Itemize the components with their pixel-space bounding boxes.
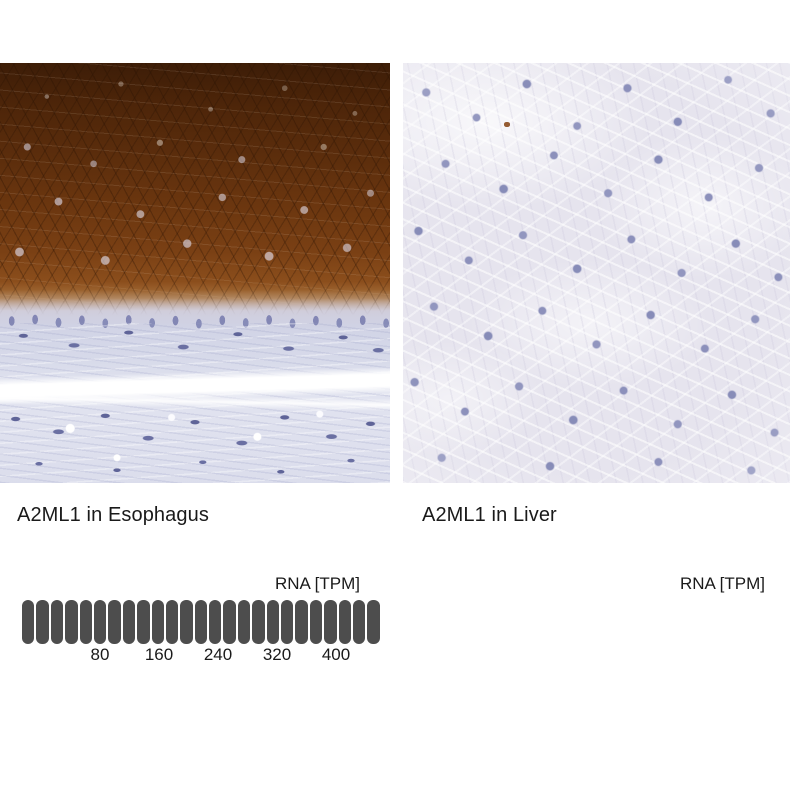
rna-bar-segment — [195, 600, 207, 644]
rna-bar-segment — [324, 600, 336, 644]
rna-bar-segment — [209, 600, 221, 644]
rna-axis-tick-240: 240 — [204, 645, 232, 665]
rna-axis-tick-80: 80 — [91, 645, 110, 665]
rna-bar-segment — [281, 600, 293, 644]
rna-bar-segment — [295, 600, 307, 644]
esophagus-vacuoles — [0, 399, 390, 483]
rna-bar-segment — [252, 600, 264, 644]
rna-bar-segment — [80, 600, 92, 644]
figure-root: A2ML1 in Esophagus RNA [TPM] 80160240320… — [0, 0, 800, 800]
rna-axis-tick-160: 160 — [145, 645, 173, 665]
rna-bar-strip-esophagus[interactable] — [22, 600, 380, 644]
rna-bar-segment — [367, 600, 379, 644]
rna-axis-tick-320: 320 — [263, 645, 291, 665]
rna-axis-tick-400: 400 — [322, 645, 350, 665]
micrograph-liver[interactable] — [403, 63, 790, 483]
rna-bar-segment — [36, 600, 48, 644]
rna-bar-segment — [180, 600, 192, 644]
rna-bar-segment — [51, 600, 63, 644]
caption-liver: A2ML1 in Liver — [422, 504, 557, 527]
rna-bar-segment — [310, 600, 322, 644]
rna-tpm-label-liver: RNA [TPM] — [680, 574, 765, 594]
caption-esophagus: A2ML1 in Esophagus — [17, 504, 209, 527]
rna-bar-segment — [267, 600, 279, 644]
rna-bar-segment — [65, 600, 77, 644]
rna-bar-segment — [223, 600, 235, 644]
rna-bar-segment — [22, 600, 34, 644]
rna-tpm-label-esophagus: RNA [TPM] — [275, 574, 360, 594]
rna-bar-segment — [94, 600, 106, 644]
rna-axis-ticks-esophagus: 80160240320400 — [22, 645, 382, 669]
rna-bar-segment — [166, 600, 178, 644]
rna-bar-segment — [108, 600, 120, 644]
rna-bar-segment — [238, 600, 250, 644]
rna-bar-segment — [137, 600, 149, 644]
liver-vignette — [403, 63, 790, 483]
micrograph-esophagus[interactable] — [0, 63, 390, 483]
rna-bar-segment — [123, 600, 135, 644]
rna-bar-segment — [353, 600, 365, 644]
rna-bar-segment — [339, 600, 351, 644]
rna-bar-segment — [152, 600, 164, 644]
